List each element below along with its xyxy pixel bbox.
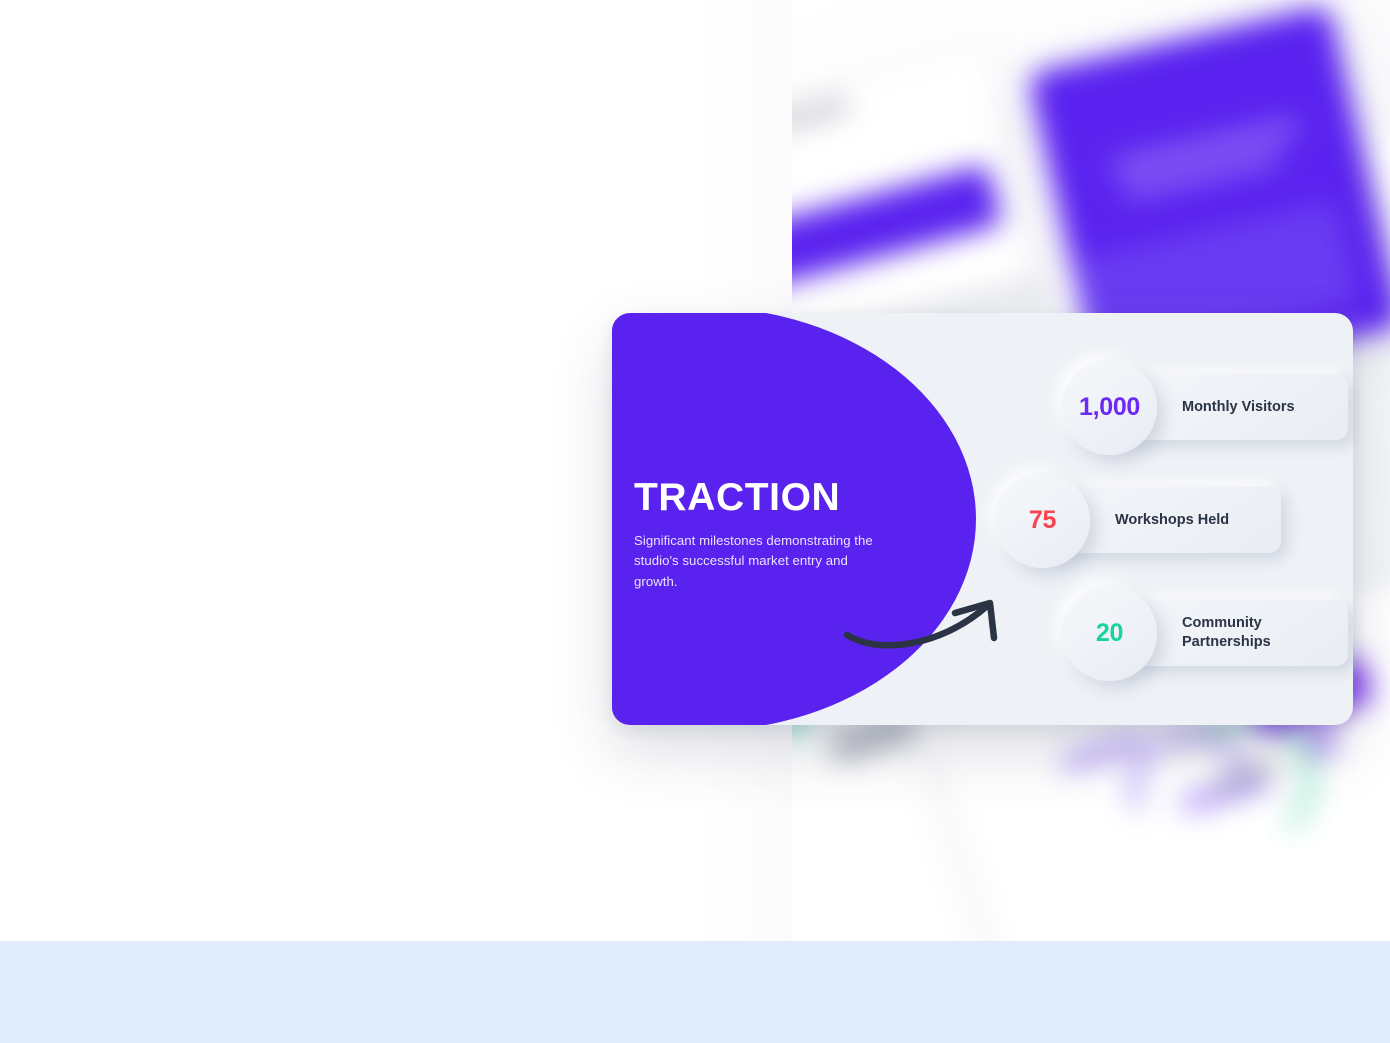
stat-row[interactable]: Community Partnerships 20: [1062, 586, 1340, 681]
traction-heading-group: TRACTION Significant milestones demonstr…: [634, 478, 884, 592]
footer-band: [0, 941, 1390, 1043]
stat-label: Workshops Held: [1115, 511, 1229, 530]
stat-label: Community Partnerships: [1182, 614, 1348, 652]
traction-stats-list: Monthly Visitors 1,000 Workshops Held 75…: [990, 360, 1340, 681]
backdrop-dot: [1310, 730, 1334, 754]
stat-value: 75: [1029, 506, 1056, 535]
stat-row[interactable]: Monthly Visitors 1,000: [1062, 360, 1340, 455]
stat-row[interactable]: Workshops Held 75: [995, 473, 1340, 568]
traction-title: TRACTION: [634, 478, 884, 517]
curved-growth-arrow-icon: [843, 592, 1011, 657]
stat-value-circle: 75: [995, 473, 1090, 568]
stat-label: Monthly Visitors: [1182, 398, 1295, 417]
slide-stage: Business Plan Kit Traction Demonstrate y…: [0, 0, 1390, 1043]
stat-value-circle: 1,000: [1062, 360, 1157, 455]
stat-value: 20: [1096, 619, 1123, 648]
traction-subtitle: Significant milestones demonstrating the…: [634, 531, 884, 592]
stat-value-circle: 20: [1062, 586, 1157, 681]
stat-value: 1,000: [1079, 393, 1140, 422]
